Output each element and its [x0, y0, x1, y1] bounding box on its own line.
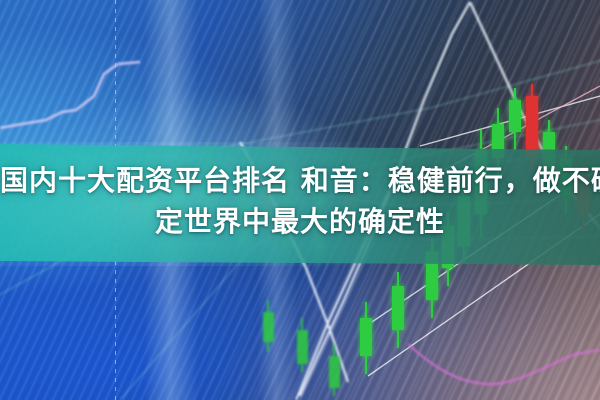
- promo-banner: 国内十大配资平台排名 和音：稳健前行，做不确 定世界中最大的确定性: [0, 0, 600, 400]
- page-title: 国内十大配资平台排名 和音：稳健前行，做不确 定世界中最大的确定性: [0, 160, 600, 242]
- headline-line-2: 定世界中最大的确定性: [0, 201, 600, 242]
- trendline-magenta: [408, 344, 600, 384]
- trendline-lavender: [0, 62, 140, 128]
- headline-line-1: 国内十大配资平台排名 和音：稳健前行，做不确: [0, 160, 600, 201]
- lower-candles: [263, 300, 340, 396]
